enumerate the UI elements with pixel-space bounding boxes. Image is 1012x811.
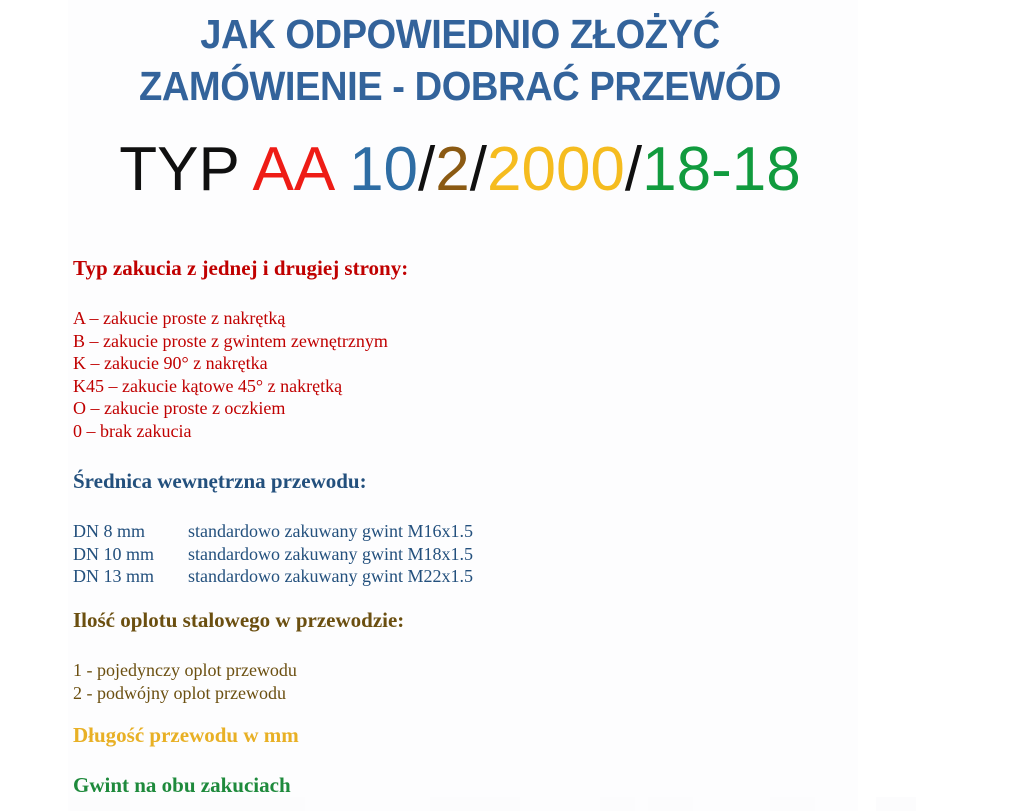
cutoff-block — [200, 797, 305, 811]
cutoff-block — [648, 797, 693, 811]
type-code-segment-dn: 10 — [349, 135, 418, 204]
cutoff-block — [70, 797, 130, 811]
section-thread-both-ends: Gwint na obu zakuciach — [73, 772, 291, 798]
section-crimp-heading: Typ zakucia z jednej i drugiej strony: — [73, 255, 408, 281]
dn-size: DN 13 mm — [73, 565, 188, 588]
list-item: B – zakucie proste z gwintem zewnętrznym — [73, 330, 408, 353]
section-braid-count: Ilość oplotu stalowego w przewodzie: 1 -… — [73, 607, 404, 704]
section-braid-heading: Ilość oplotu stalowego w przewodzie: — [73, 607, 404, 633]
list-item: K45 – zakucie kątowe 45° z nakrętką — [73, 375, 408, 398]
cutoff-block — [430, 797, 520, 811]
cutoff-block — [600, 797, 635, 811]
dn-thread: standardowo zakuwany gwint M18x1.5 — [188, 543, 473, 566]
list-item: A – zakucie proste z nakrętką — [73, 307, 408, 330]
slide-canvas: JAK ODPOWIEDNIO ZŁOŻYĆ ZAMÓWIENIE - DOBR… — [0, 0, 1012, 811]
type-code-segment-length: 2000 — [487, 135, 625, 204]
type-code-segment-braid: 2 — [435, 135, 469, 204]
section-thread-heading: Gwint na obu zakuciach — [73, 772, 291, 798]
section-length-heading: Długość przewodu w mm — [73, 722, 299, 748]
dn-thread: standardowo zakuwany gwint M22x1.5 — [188, 565, 473, 588]
section-diameter-table: DN 8 mm standardowo zakuwany gwint M16x1… — [73, 520, 473, 588]
type-code-separator-2: / — [470, 135, 487, 204]
section-braid-list: 1 - pojedynczy oplot przewodu 2 - podwój… — [73, 659, 404, 704]
cutoff-block — [770, 797, 815, 811]
cutoff-block — [876, 797, 916, 811]
section-inner-diameter: Średnica wewnętrzna przewodu: DN 8 mm st… — [73, 468, 473, 588]
list-item: 0 – brak zakucia — [73, 420, 408, 443]
list-item: 2 - podwójny oplot przewodu — [73, 682, 404, 705]
table-row: DN 8 mm standardowo zakuwany gwint M16x1… — [73, 520, 473, 543]
list-item: K – zakucie 90° z nakrętka — [73, 352, 408, 375]
dn-thread: standardowo zakuwany gwint M16x1.5 — [188, 520, 473, 543]
slide-title: JAK ODPOWIEDNIO ZŁOŻYĆ ZAMÓWIENIE - DOBR… — [32, 8, 888, 112]
type-code-segment-typ: TYP — [119, 135, 252, 204]
type-code-line: TYP AA 10/2/2000/18-18 — [0, 134, 920, 206]
type-code-segment-aa: AA — [253, 135, 332, 204]
table-row: DN 10 mm standardowo zakuwany gwint M18x… — [73, 543, 473, 566]
section-diameter-heading: Średnica wewnętrzna przewodu: — [73, 468, 473, 494]
list-item: O – zakucie proste z oczkiem — [73, 397, 408, 420]
dn-size: DN 8 mm — [73, 520, 188, 543]
type-code-separator-1: / — [418, 135, 435, 204]
type-code-segment-space — [332, 135, 349, 204]
table-row: DN 13 mm standardowo zakuwany gwint M22x… — [73, 565, 473, 588]
list-item: 1 - pojedynczy oplot przewodu — [73, 659, 404, 682]
section-crimp-list: A – zakucie proste z nakrętką B – zakuci… — [73, 307, 408, 442]
section-hose-length: Długość przewodu w mm — [73, 722, 299, 748]
section-crimp-type: Typ zakucia z jednej i drugiej strony: A… — [73, 255, 408, 442]
dn-size: DN 10 mm — [73, 543, 188, 566]
type-code-separator-3: / — [625, 135, 642, 204]
type-code-segment-thread: 18-18 — [642, 135, 801, 204]
